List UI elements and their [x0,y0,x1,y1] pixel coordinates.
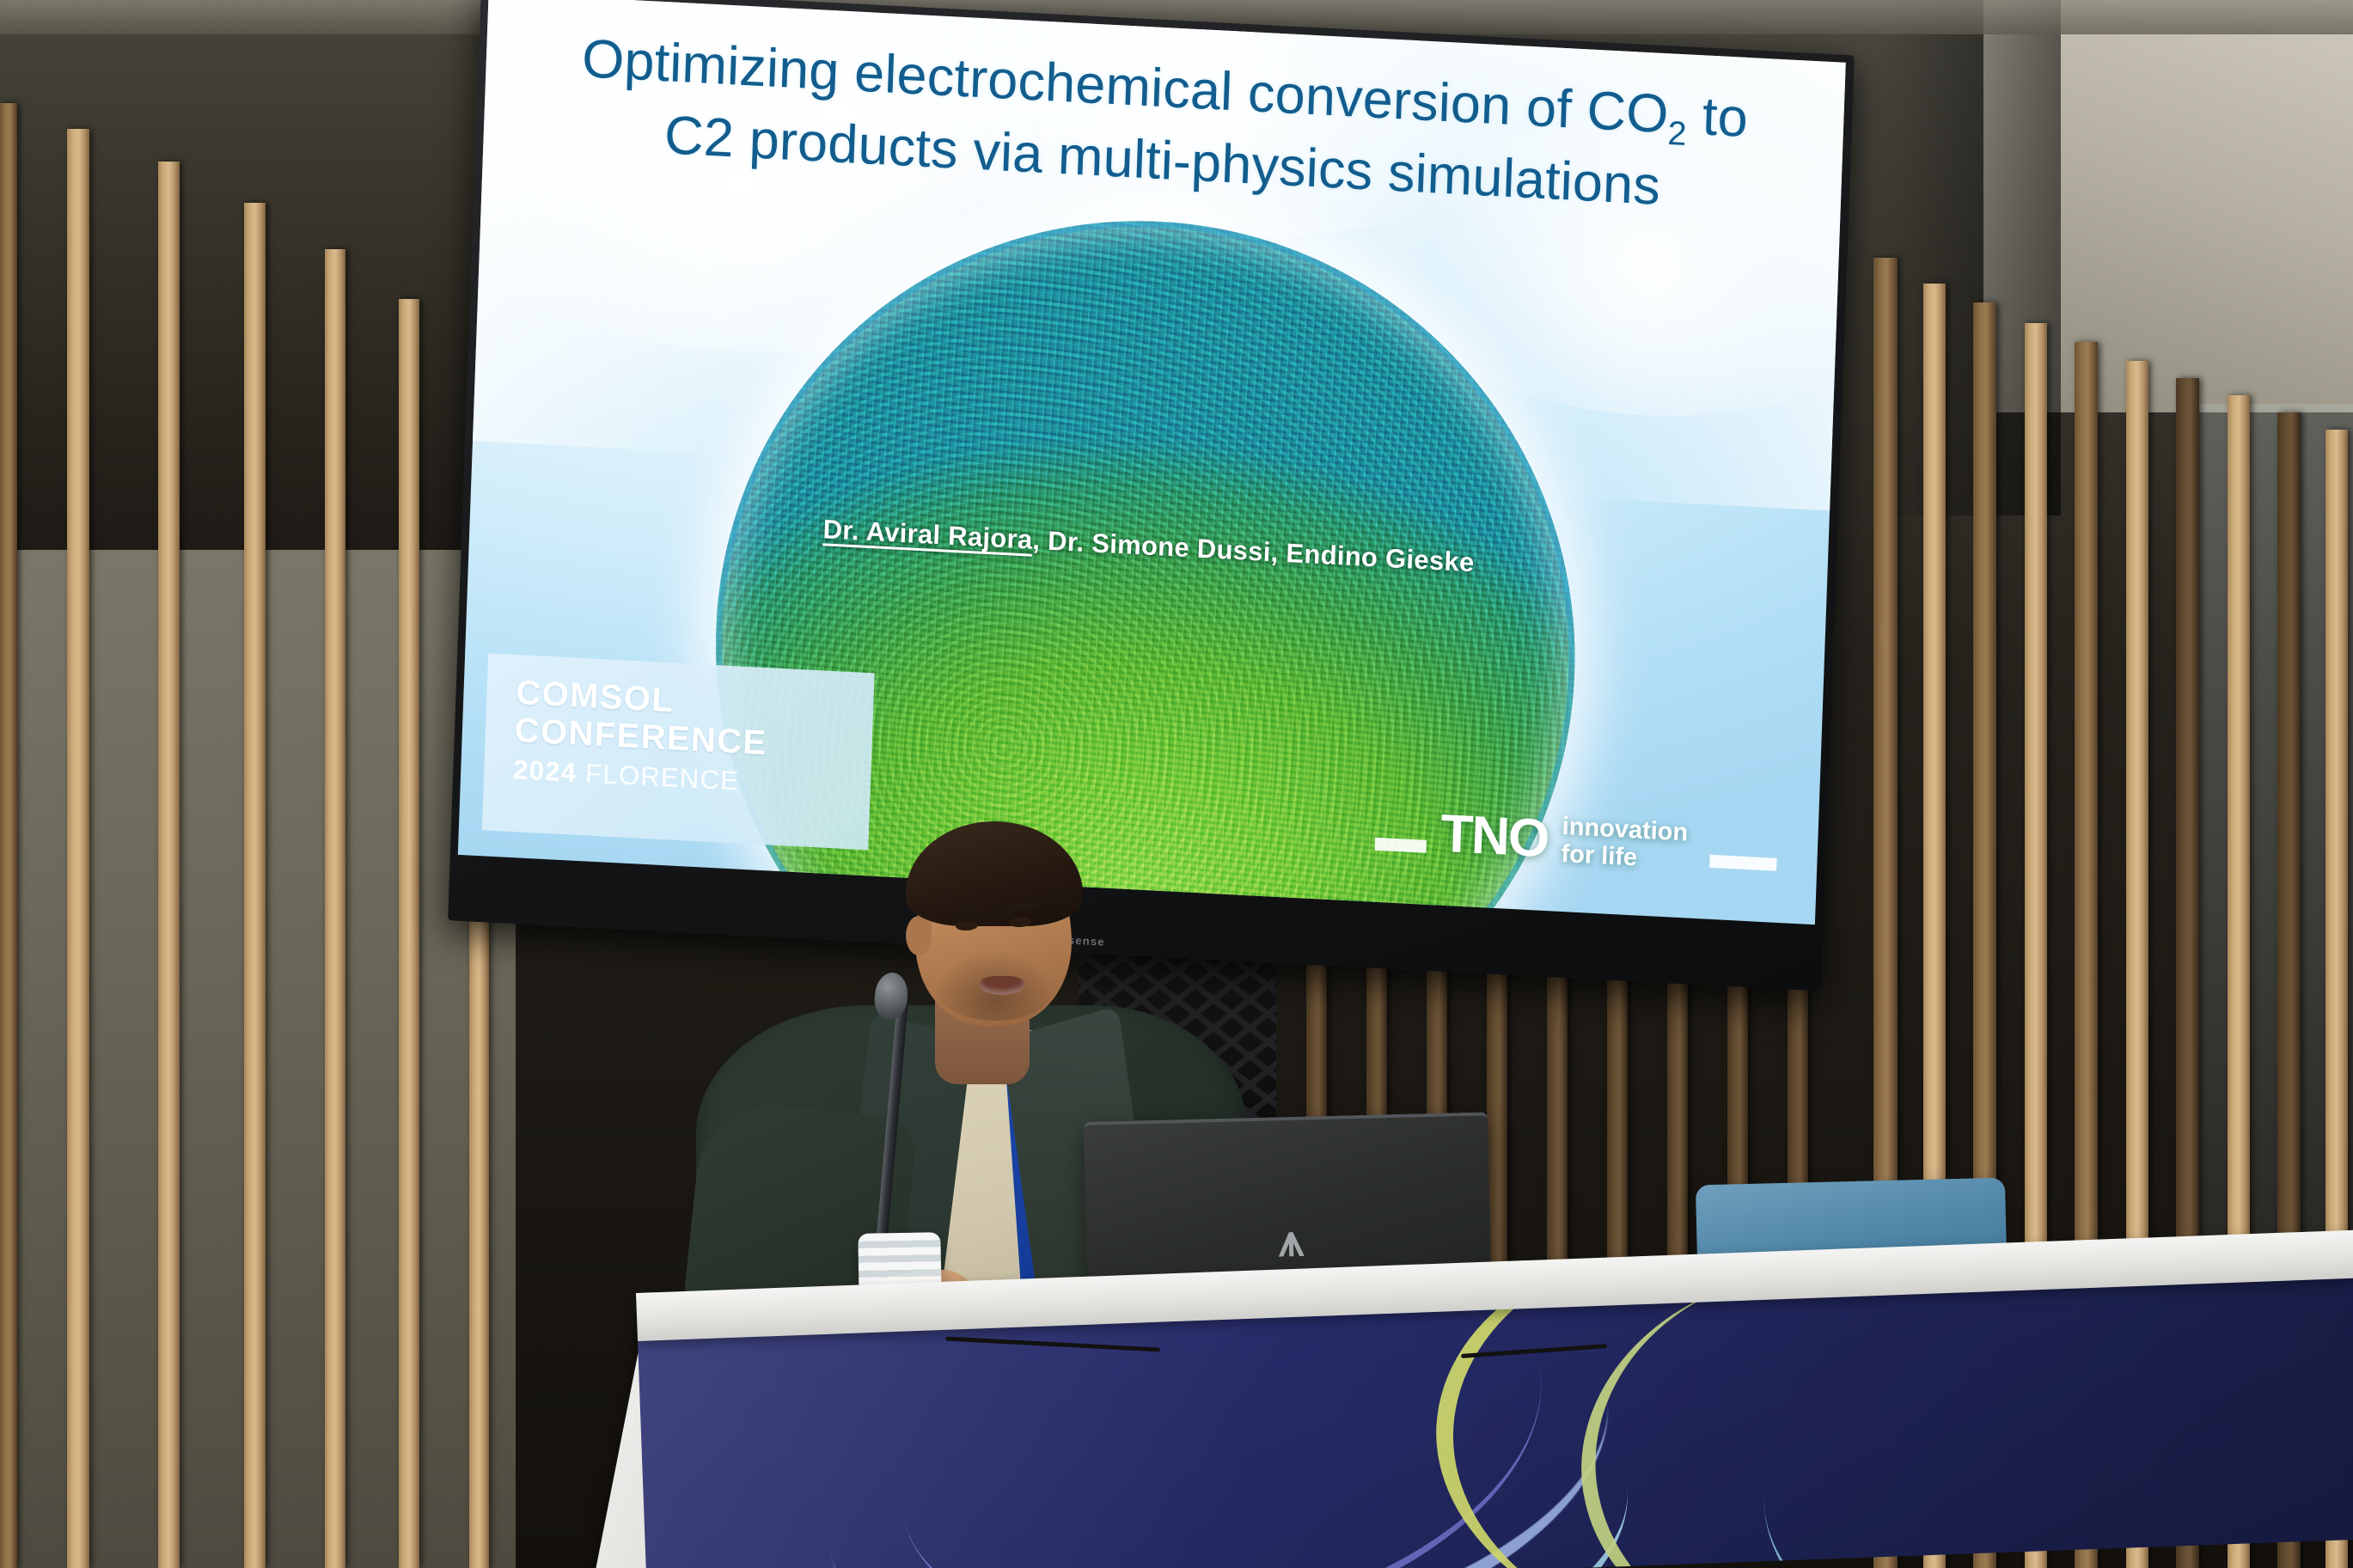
speaker-ear [906,916,932,955]
wood-slat [325,249,345,1568]
tuf-gaming-logo: ⩚ [1278,1215,1299,1268]
tno-logo-wordmark: TNO [1439,809,1549,865]
comsol-logo-year: 2024 [513,754,578,788]
wood-slat [67,129,89,1568]
comsol-logo-city: FLORENCE [585,758,740,796]
slide-screen: Optimizing electrochemical conversion of… [458,0,1846,924]
speaker-hair [906,821,1083,926]
slide-title-subscript: 2 [1667,115,1687,153]
tno-logo-tagline: innovation for life [1561,813,1689,875]
tno-logo-leading-bar [1375,838,1427,853]
conference-room-photo: Optimizing electrochemical conversion of… [0,0,2353,1568]
wood-slat [399,299,419,1568]
tno-logo-trailing-bar [1709,855,1776,871]
wood-slat [244,203,266,1568]
wood-slat [0,103,17,1568]
speaker-mouth [980,976,1024,995]
wood-slat [158,162,180,1568]
comsol-conference-logo: COMSOL CONFERENCE 2024 FLORENCE [482,653,875,850]
